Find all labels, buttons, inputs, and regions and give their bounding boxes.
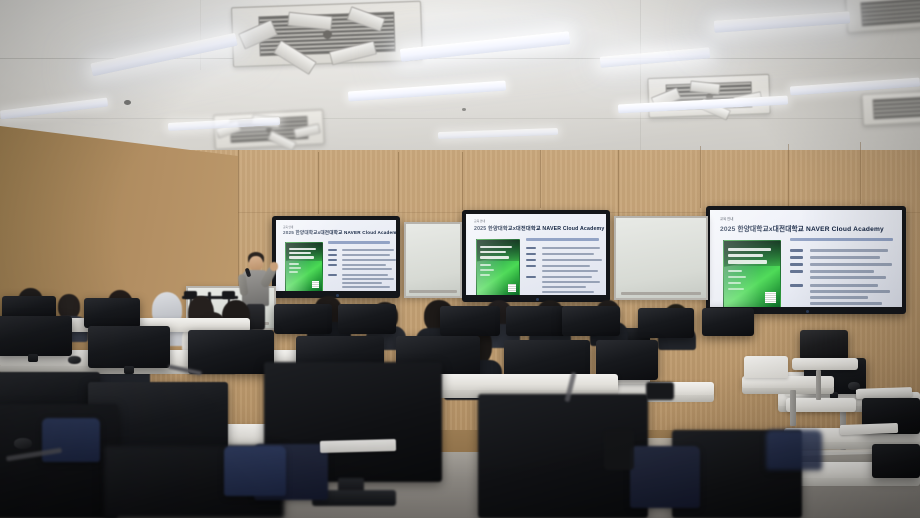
desk xyxy=(786,398,856,412)
whiteboard-left xyxy=(404,222,462,298)
ceiling-grid-line xyxy=(640,0,641,150)
wall-panel-seam xyxy=(700,146,701,208)
wall-panel-seam xyxy=(540,150,541,208)
wall-panel-seam xyxy=(398,152,399,212)
desk-edge xyxy=(790,478,920,486)
monitor[interactable] xyxy=(440,306,500,336)
whiteboard-center xyxy=(614,216,708,300)
display-right-screen: 교육 안내 2025 한양대학교x대전대학교 NAVER Cloud Acade… xyxy=(710,210,902,307)
ac-grille xyxy=(873,96,920,119)
screen-glare xyxy=(276,220,396,291)
monitor[interactable] xyxy=(872,444,920,478)
equipment-case xyxy=(646,382,674,400)
ceiling-sensor-icon xyxy=(124,100,131,105)
monitor[interactable] xyxy=(506,306,566,336)
display-center[interactable]: 교육 안내 2025 한양대학교x대전대학교 NAVER Cloud Acade… xyxy=(462,210,610,302)
desk-leg xyxy=(790,390,796,426)
ac-cassette-unit xyxy=(861,90,920,126)
wall-panel-seam xyxy=(860,142,861,204)
mouse[interactable] xyxy=(848,382,860,390)
keyboard[interactable] xyxy=(840,423,898,435)
mouse[interactable] xyxy=(14,438,32,449)
display-center-screen: 교육 안내 2025 한양대학교x대전대학교 NAVER Cloud Acade… xyxy=(466,214,606,295)
display-power-led xyxy=(806,310,809,313)
monitor[interactable] xyxy=(338,304,396,334)
monitor[interactable] xyxy=(88,326,170,368)
wall-panel-seam xyxy=(462,152,463,210)
display-power-led xyxy=(336,294,339,297)
equipment-case xyxy=(604,430,634,470)
ceiling-sensor-icon xyxy=(462,108,466,111)
monitor[interactable] xyxy=(702,308,754,336)
desk xyxy=(792,358,858,370)
desk-leg xyxy=(816,370,821,400)
wall-panel-seam xyxy=(788,144,789,206)
display-left-screen: 교육 안내 2025 한양대학교x대전대학교 NAVER Cloud Acade… xyxy=(276,220,396,291)
monitor[interactable] xyxy=(562,306,620,336)
ac-cassette-unit xyxy=(845,0,920,33)
monitor[interactable] xyxy=(188,330,274,374)
mouse[interactable] xyxy=(68,356,81,364)
ceiling-grid-line xyxy=(0,118,920,119)
monitor[interactable] xyxy=(84,298,140,328)
monitor-stand xyxy=(124,366,134,374)
screen-glare xyxy=(466,214,606,295)
monitor[interactable] xyxy=(800,330,848,360)
chair[interactable] xyxy=(42,418,100,462)
wall-panel-seam xyxy=(318,152,319,214)
keyboard[interactable] xyxy=(320,439,396,453)
display-right[interactable]: 교육 안내 2025 한양대학교x대전대학교 NAVER Cloud Acade… xyxy=(706,206,906,314)
classroom-photo: 교육 안내 2025 한양대학교x대전대학교 NAVER Cloud Acade… xyxy=(0,0,920,518)
whiteboard-marker-tray xyxy=(621,292,700,295)
ceiling-grid-line xyxy=(200,0,201,70)
desk-privacy-panel xyxy=(744,356,788,378)
chair[interactable] xyxy=(630,446,700,508)
monitor-stand xyxy=(28,354,38,362)
display-left[interactable]: 교육 안내 2025 한양대학교x대전대학교 NAVER Cloud Acade… xyxy=(272,216,400,298)
monitor[interactable] xyxy=(274,304,332,334)
presenter-hand xyxy=(270,262,278,271)
screen-glare xyxy=(710,210,902,307)
monitor[interactable] xyxy=(638,308,694,338)
monitor[interactable] xyxy=(0,316,72,356)
chair[interactable] xyxy=(224,446,286,496)
presenter-head xyxy=(249,256,263,271)
whiteboard-marker-tray xyxy=(409,290,457,293)
ac-grille xyxy=(860,0,920,26)
display-power-led xyxy=(536,298,539,301)
chair[interactable] xyxy=(766,430,822,470)
